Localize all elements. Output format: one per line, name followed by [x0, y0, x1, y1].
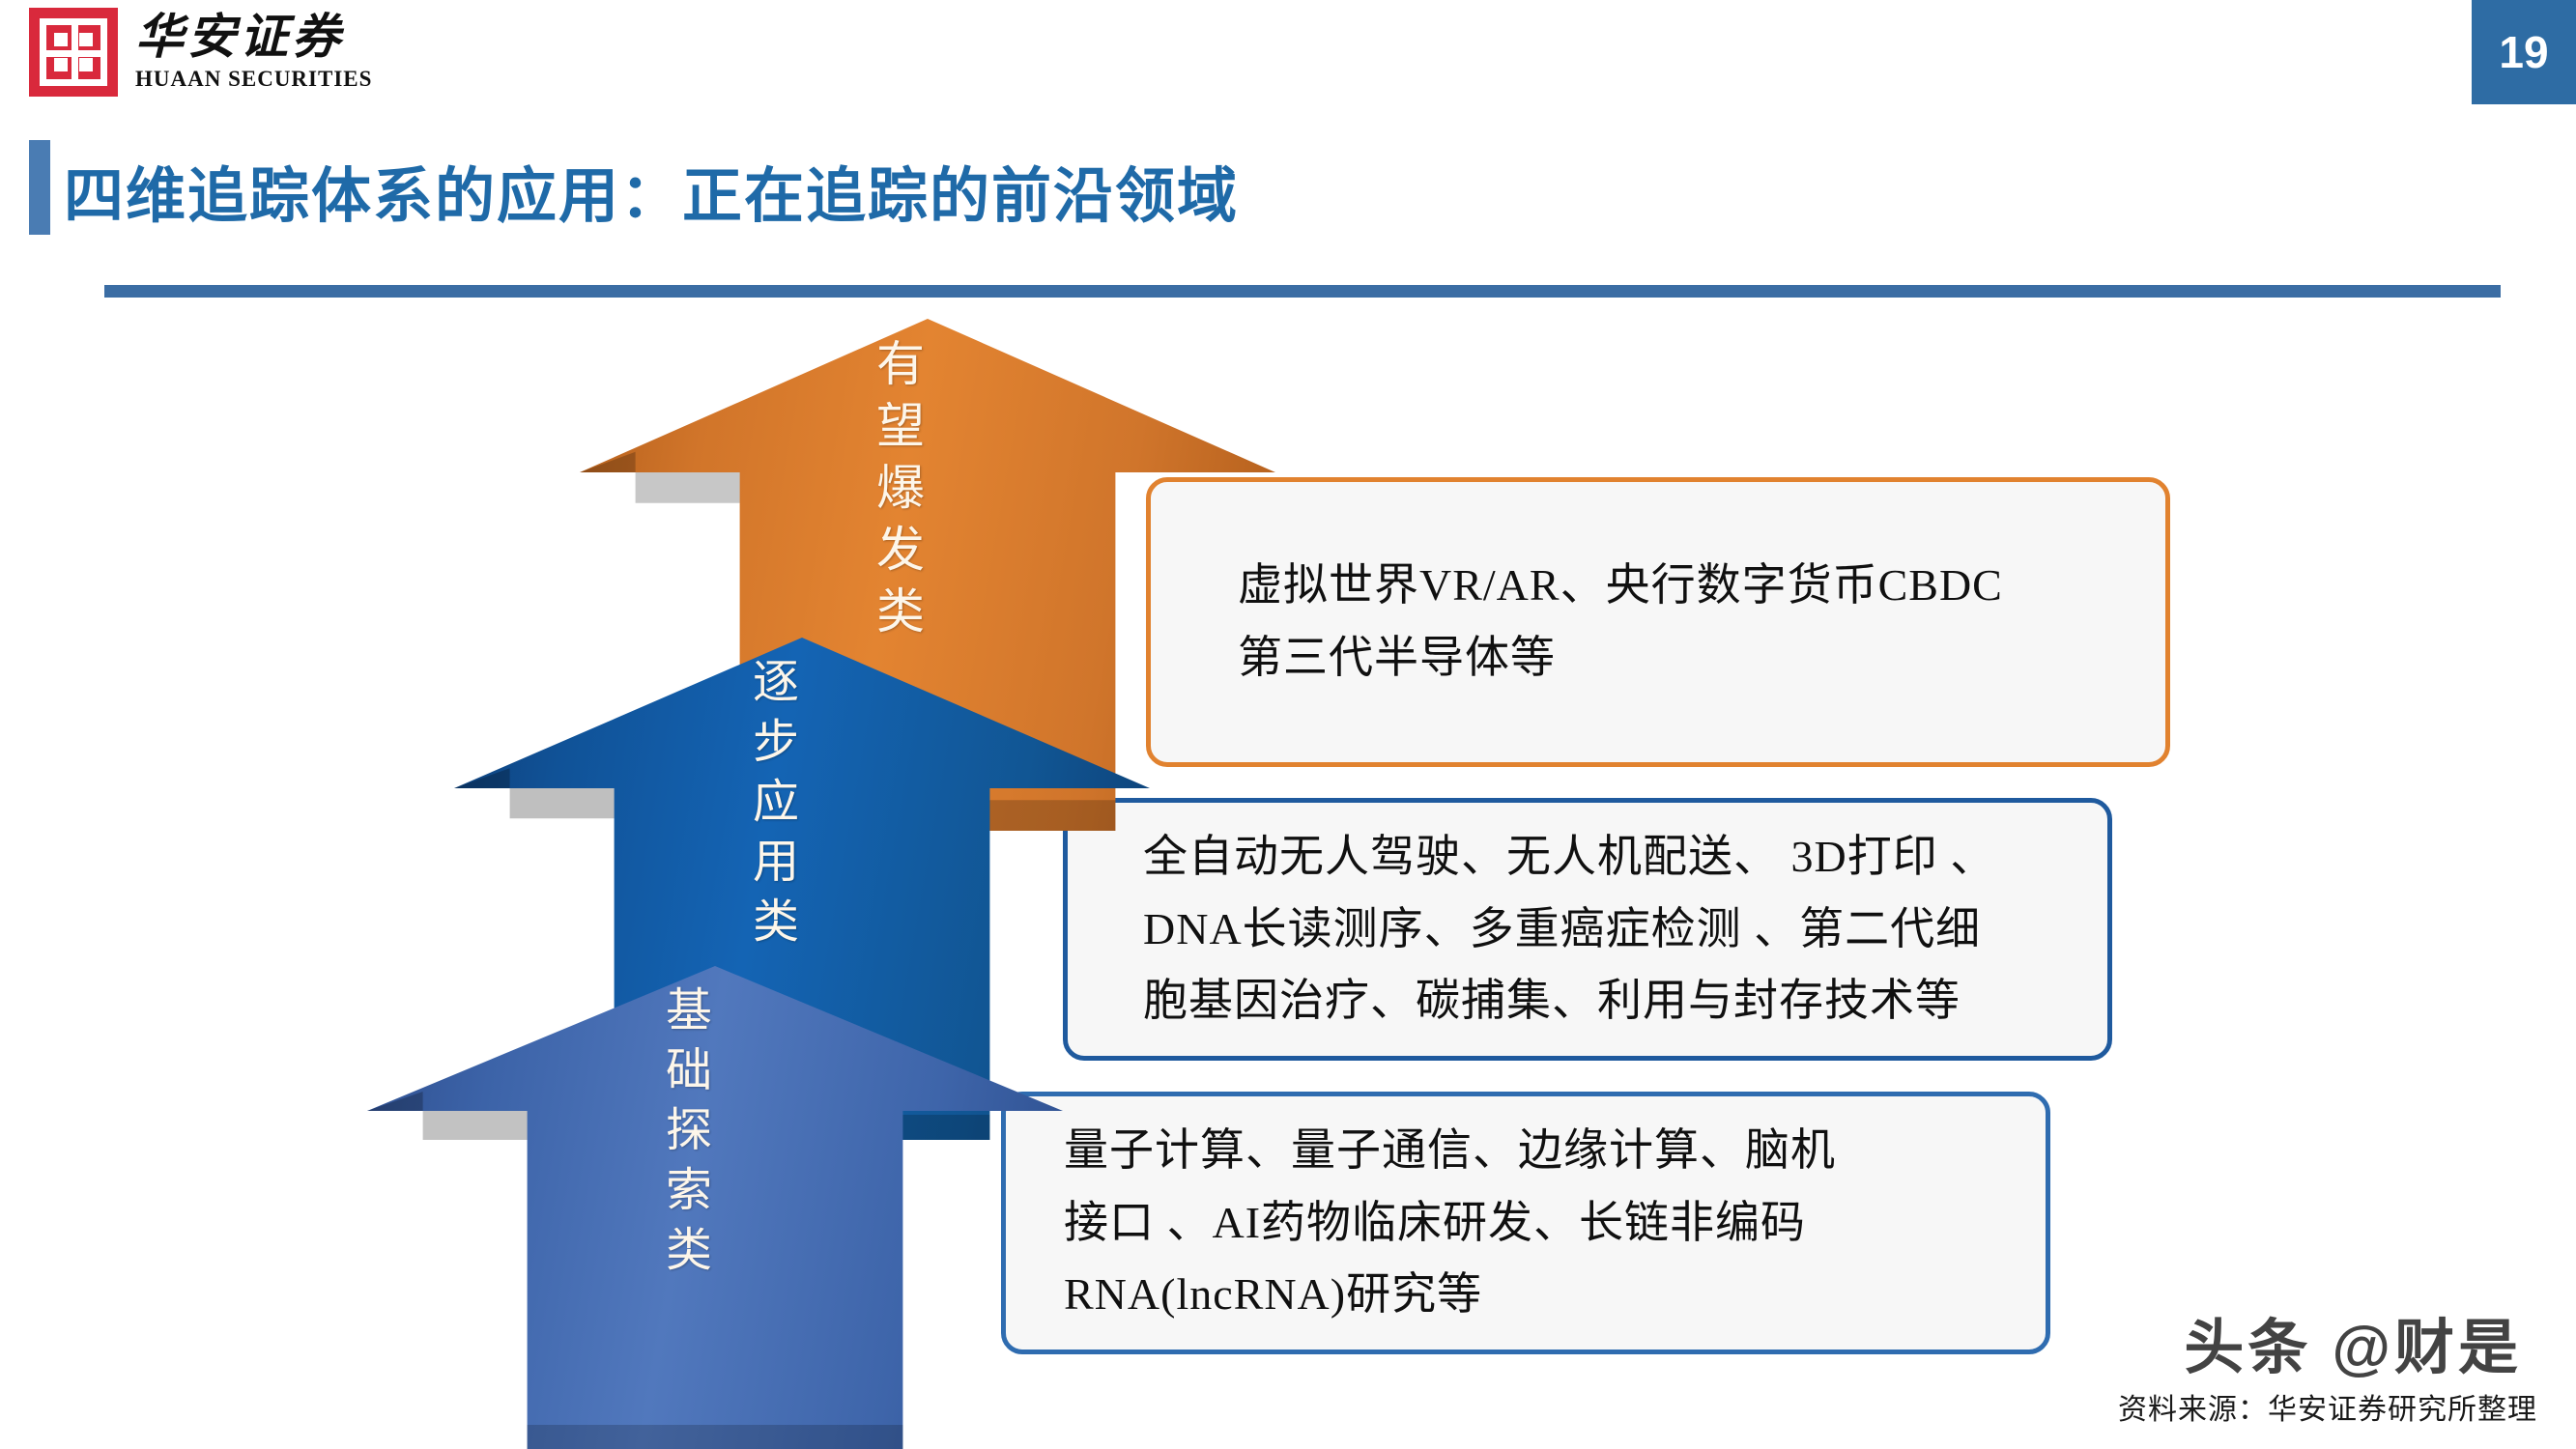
- title-divider-rule: [104, 285, 2501, 298]
- logo-company-name-cn: 华安证券: [135, 13, 372, 61]
- logo-company-name-en: HUAAN SECURITIES: [135, 67, 372, 92]
- slide-canvas: 华安证券 HUAAN SECURITIES 19 四维追踪体系的应用：正在追踪的…: [0, 0, 2576, 1449]
- callout-hopeful-breakout: 虚拟世界VR/AR、央行数字货币CBDC 第三代半导体等: [1146, 477, 2170, 767]
- callout-gradual-application: 全自动无人驾驶、无人机配送、 3D打印 、 DNA长读测序、多重癌症检测 、第二…: [1063, 798, 2112, 1061]
- arrow-gradual-application-label: 逐步应用类: [736, 657, 804, 956]
- callout-basic-exploration-text: 量子计算、量子通信、边缘计算、脑机 接口 、AI药物临床研发、长链非编码 RNA…: [1064, 1115, 1836, 1331]
- arrow-basic-exploration-label: 基础探索类: [649, 985, 717, 1285]
- brand-logo: 华安证券 HUAAN SECURITIES: [29, 8, 372, 97]
- page-title: 四维追踪体系的应用：正在追踪的前沿领域: [64, 147, 1239, 234]
- title-accent-bar: [29, 140, 50, 235]
- arrow-hopeful-breakout-label: 有望爆发类: [862, 338, 931, 647]
- arrow-basic-exploration: 基础探索类: [367, 966, 1063, 1449]
- page-number-badge: 19: [2472, 0, 2576, 104]
- source-note: 资料来源：华安证券研究所整理: [2118, 1385, 2537, 1428]
- watermark: 头条 @财是: [2184, 1298, 2522, 1385]
- callout-hopeful-breakout-text: 虚拟世界VR/AR、央行数字货币CBDC 第三代半导体等: [1238, 550, 2003, 694]
- page-number-value: 19: [2499, 26, 2548, 78]
- huaan-logo-mark-icon: [29, 8, 118, 97]
- callout-gradual-application-text: 全自动无人驾驶、无人机配送、 3D打印 、 DNA长读测序、多重癌症检测 、第二…: [1143, 821, 1995, 1037]
- callout-basic-exploration: 量子计算、量子通信、边缘计算、脑机 接口 、AI药物临床研发、长链非编码 RNA…: [1001, 1092, 2050, 1354]
